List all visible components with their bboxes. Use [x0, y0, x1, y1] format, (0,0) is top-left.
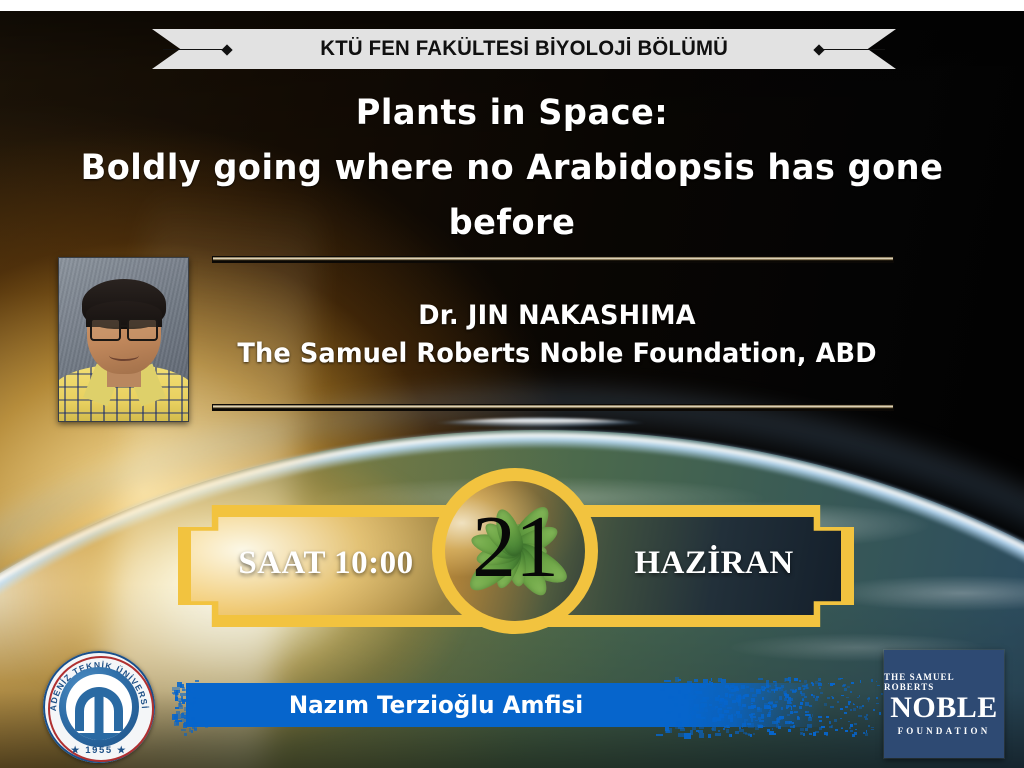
particle — [195, 680, 199, 682]
particle — [800, 728, 805, 731]
particle — [751, 703, 753, 705]
particle — [718, 678, 722, 682]
particle — [809, 733, 812, 736]
particle — [812, 714, 813, 717]
particle — [681, 704, 684, 706]
date-badge: 21 — [432, 468, 598, 634]
particle — [191, 690, 195, 692]
particle — [876, 703, 880, 705]
particle — [826, 716, 829, 718]
particle — [191, 730, 194, 733]
particle — [717, 698, 720, 699]
particle — [742, 723, 746, 727]
particle — [833, 683, 835, 684]
particle — [800, 691, 802, 693]
particle — [675, 677, 679, 682]
particle — [858, 715, 862, 717]
particle — [711, 682, 713, 686]
particle — [189, 728, 191, 731]
divider-top — [212, 256, 894, 263]
particle — [840, 718, 842, 720]
particle — [701, 717, 706, 719]
particle — [709, 681, 712, 685]
particle — [721, 717, 725, 722]
particle — [766, 680, 769, 684]
particle — [800, 702, 804, 705]
particle — [730, 718, 733, 723]
particle — [731, 734, 733, 737]
particle — [678, 690, 681, 694]
title-line-2: Boldly going where no Arabidopsis has go… — [59, 141, 965, 196]
particle — [739, 706, 743, 710]
particle — [772, 721, 775, 724]
particle — [727, 707, 732, 709]
particle — [757, 708, 762, 712]
poster-title: Plants in Space: Boldly going where no A… — [40, 86, 984, 251]
particle — [818, 678, 821, 681]
particle — [694, 679, 698, 683]
particle — [700, 708, 704, 713]
particle — [692, 683, 698, 684]
particle — [845, 706, 848, 708]
particle — [718, 710, 722, 715]
particle — [829, 726, 832, 729]
particle — [774, 690, 776, 694]
particle — [752, 694, 757, 697]
particle — [723, 728, 726, 730]
particle — [756, 689, 759, 691]
particle — [808, 717, 812, 721]
particle — [192, 704, 195, 707]
particle — [181, 729, 186, 732]
particle — [837, 701, 839, 703]
particle — [844, 712, 846, 714]
particle — [840, 708, 844, 710]
speaker-info: Dr. JIN NAKASHIMA The Samuel Roberts Nob… — [212, 300, 902, 369]
particle — [768, 691, 771, 694]
particle — [790, 689, 795, 691]
particle — [767, 706, 771, 709]
seminar-poster: KTÜ FEN FAKÜLTESİ BİYOLOJİ BÖLÜMÜ Plants… — [0, 0, 1024, 768]
particle — [841, 695, 844, 697]
particle — [731, 689, 735, 692]
particle — [805, 702, 809, 705]
particle — [183, 723, 185, 725]
particle — [799, 706, 803, 709]
noble-line-2: NOBLE — [890, 693, 998, 724]
particle — [721, 679, 726, 682]
particle — [827, 697, 830, 699]
venue-bar: Nazım Terzioğlu Amfisi — [186, 683, 886, 727]
particle — [794, 711, 798, 714]
particle — [692, 707, 698, 710]
speaker-photo — [58, 257, 189, 422]
particle — [182, 689, 186, 692]
top-white-strip — [0, 0, 1024, 11]
particle — [790, 711, 794, 714]
particle — [748, 706, 754, 709]
particle — [769, 701, 772, 702]
particle — [818, 682, 821, 684]
particle — [779, 696, 782, 699]
particle — [778, 726, 781, 729]
particle — [732, 700, 737, 703]
event-month: HAZİRAN — [594, 545, 834, 582]
particle — [737, 714, 742, 718]
particle — [847, 686, 850, 688]
particle — [834, 719, 837, 723]
particle — [744, 719, 748, 721]
particle — [181, 717, 186, 722]
particle — [750, 688, 753, 693]
particle — [718, 730, 720, 732]
particle — [724, 710, 729, 714]
particle — [830, 706, 834, 708]
particle — [690, 730, 693, 735]
particle — [194, 728, 197, 731]
particle — [772, 733, 777, 735]
particle — [688, 715, 691, 719]
particle — [848, 701, 850, 703]
monogram-base — [77, 733, 121, 740]
particle — [877, 685, 880, 687]
particle — [761, 714, 764, 718]
particle — [751, 713, 755, 715]
particle — [762, 689, 765, 692]
particle — [751, 698, 755, 702]
speaker-affiliation: The Samuel Roberts Noble Foundation, ABD — [229, 338, 885, 369]
organizer-banner-text: KTÜ FEN FAKÜLTESİ BİYOLOJİ BÖLÜMÜ — [320, 37, 728, 61]
particle — [826, 734, 829, 736]
particle — [804, 686, 808, 689]
particle — [786, 707, 788, 709]
particle — [759, 720, 764, 722]
particle — [850, 730, 854, 732]
lens-left — [90, 318, 121, 341]
particle — [692, 727, 696, 730]
glasses-icon — [90, 318, 158, 337]
particle — [863, 732, 865, 734]
particle — [850, 691, 852, 693]
particle — [734, 714, 736, 716]
particle — [176, 711, 180, 714]
particle — [687, 681, 692, 686]
particle — [879, 712, 881, 715]
particle — [860, 680, 862, 683]
particle — [712, 727, 717, 731]
particle — [859, 706, 862, 708]
particle — [731, 714, 733, 716]
particle — [865, 733, 867, 736]
particle — [172, 687, 180, 691]
particle — [781, 707, 783, 710]
particle — [845, 730, 848, 732]
particle — [691, 696, 696, 699]
particle — [865, 718, 868, 720]
particle — [709, 704, 712, 707]
particle — [868, 697, 869, 699]
particle — [853, 708, 857, 711]
particle — [857, 697, 860, 698]
particle — [181, 696, 184, 701]
particle — [737, 701, 741, 703]
particle — [656, 734, 663, 737]
particle — [787, 700, 791, 704]
particle — [775, 701, 778, 703]
ktu-monogram-icon — [75, 687, 123, 740]
noble-foundation-logo-icon: THE SAMUEL ROBERTS NOBLE FOUNDATION — [884, 650, 1004, 758]
particle — [726, 729, 729, 733]
mouth — [109, 350, 139, 361]
particle — [743, 732, 747, 734]
particle — [190, 683, 193, 685]
organizer-ribbon: KTÜ FEN FAKÜLTESİ BİYOLOJİ BÖLÜMÜ — [152, 29, 896, 69]
particle — [718, 695, 720, 697]
particle — [819, 687, 822, 690]
particle — [729, 694, 731, 698]
particle — [699, 733, 704, 738]
particle — [793, 705, 796, 706]
particle — [852, 734, 855, 737]
particle — [835, 729, 838, 731]
particle — [788, 677, 791, 681]
event-day: 21 — [432, 468, 598, 634]
particle — [684, 724, 689, 727]
ktu-university-seal-icon: KARADENİZ TEKNİK ÜNİVERSİTESİ ★ 1955 ★ — [40, 651, 158, 763]
particle — [708, 734, 711, 738]
particle — [846, 697, 849, 698]
particle — [702, 697, 706, 702]
particle — [803, 733, 806, 736]
particle — [871, 679, 872, 682]
particle — [871, 729, 874, 731]
particle — [746, 686, 750, 689]
particle — [811, 694, 813, 696]
particle — [775, 683, 776, 687]
particle — [758, 725, 763, 728]
particle — [703, 679, 708, 683]
particle — [739, 696, 745, 699]
particle — [711, 707, 717, 710]
particle — [790, 726, 794, 729]
seal-core — [59, 667, 139, 747]
particle — [868, 725, 870, 727]
particle — [184, 733, 187, 736]
particle — [750, 734, 752, 738]
particle — [798, 687, 801, 690]
particle — [849, 727, 852, 729]
particle — [790, 721, 792, 723]
particle — [853, 704, 856, 706]
seal-core-inner — [66, 674, 132, 740]
particle — [868, 700, 870, 702]
particle — [855, 729, 857, 731]
particle — [191, 709, 194, 711]
noble-line-3: FOUNDATION — [898, 726, 991, 736]
particle — [876, 697, 878, 699]
particle — [678, 713, 682, 718]
particle — [711, 687, 716, 689]
particle — [819, 727, 822, 730]
particle — [716, 719, 721, 721]
particle — [741, 685, 745, 689]
particle — [178, 703, 183, 707]
particle — [876, 681, 878, 682]
particle — [851, 682, 854, 684]
particle — [797, 717, 800, 720]
particle — [681, 706, 683, 710]
particle — [805, 714, 810, 716]
particle — [767, 729, 770, 732]
particle — [701, 703, 707, 708]
particle — [844, 688, 846, 690]
particle — [818, 716, 821, 718]
particle — [712, 718, 715, 722]
particle — [751, 718, 754, 722]
particle — [862, 705, 864, 708]
noble-line-1: THE SAMUEL ROBERTS — [884, 672, 1004, 692]
particle — [692, 711, 697, 714]
particle — [683, 702, 689, 706]
particle — [727, 727, 730, 729]
particle — [824, 703, 827, 706]
particle — [819, 720, 823, 722]
particle — [873, 709, 875, 711]
particle — [738, 702, 741, 706]
venue-dispersion-particles — [656, 677, 906, 735]
particle — [794, 678, 798, 682]
particle — [705, 709, 708, 712]
particle — [812, 683, 814, 686]
particle — [172, 692, 178, 695]
lens-right — [127, 318, 158, 341]
particle — [799, 680, 801, 682]
particle — [772, 728, 774, 730]
particle — [688, 688, 691, 692]
particle — [784, 698, 787, 701]
venue-name: Nazım Terzioğlu Amfisi — [196, 683, 676, 727]
particle — [748, 723, 754, 728]
particle — [753, 733, 755, 735]
particle — [745, 694, 749, 696]
particle — [763, 726, 765, 727]
particle — [881, 693, 883, 695]
particle — [848, 721, 850, 723]
particle — [788, 729, 791, 732]
particle — [769, 714, 772, 718]
particle — [722, 704, 726, 709]
particle — [775, 687, 778, 690]
particle — [854, 723, 857, 724]
particle — [854, 732, 857, 734]
particle — [773, 705, 777, 707]
particle — [191, 717, 195, 720]
particle — [696, 691, 702, 694]
particle — [840, 678, 843, 680]
particle — [715, 733, 721, 736]
particle — [779, 717, 783, 721]
particle — [820, 692, 823, 693]
particle — [781, 685, 784, 688]
particle — [848, 703, 850, 705]
particle — [841, 727, 844, 729]
particle — [758, 678, 763, 680]
speaker-name: Dr. JIN NAKASHIMA — [229, 300, 885, 331]
particle — [843, 684, 846, 687]
particle — [787, 714, 791, 716]
particle — [850, 709, 852, 711]
particle — [832, 697, 834, 700]
particle — [829, 721, 831, 724]
particle — [805, 728, 808, 731]
seal-year: ★ 1955 ★ — [40, 745, 158, 756]
particle — [725, 685, 729, 689]
divider-bottom — [212, 404, 894, 411]
particle — [678, 733, 685, 738]
particle — [762, 697, 765, 700]
particle — [664, 680, 671, 683]
event-time: SAAT 10:00 — [206, 545, 446, 582]
particle — [725, 693, 728, 697]
particle — [828, 683, 830, 685]
particle — [815, 698, 818, 700]
particle — [864, 716, 866, 717]
particle — [770, 709, 773, 711]
title-line-3: before — [59, 196, 965, 251]
particle — [804, 680, 808, 684]
particle — [815, 731, 819, 733]
particle — [768, 685, 772, 687]
particle — [785, 690, 787, 694]
particle — [700, 684, 706, 689]
particle — [802, 698, 804, 701]
title-line-1: Plants in Space: — [59, 86, 965, 141]
particle — [755, 720, 758, 722]
particle — [735, 731, 739, 734]
particle — [804, 696, 807, 699]
